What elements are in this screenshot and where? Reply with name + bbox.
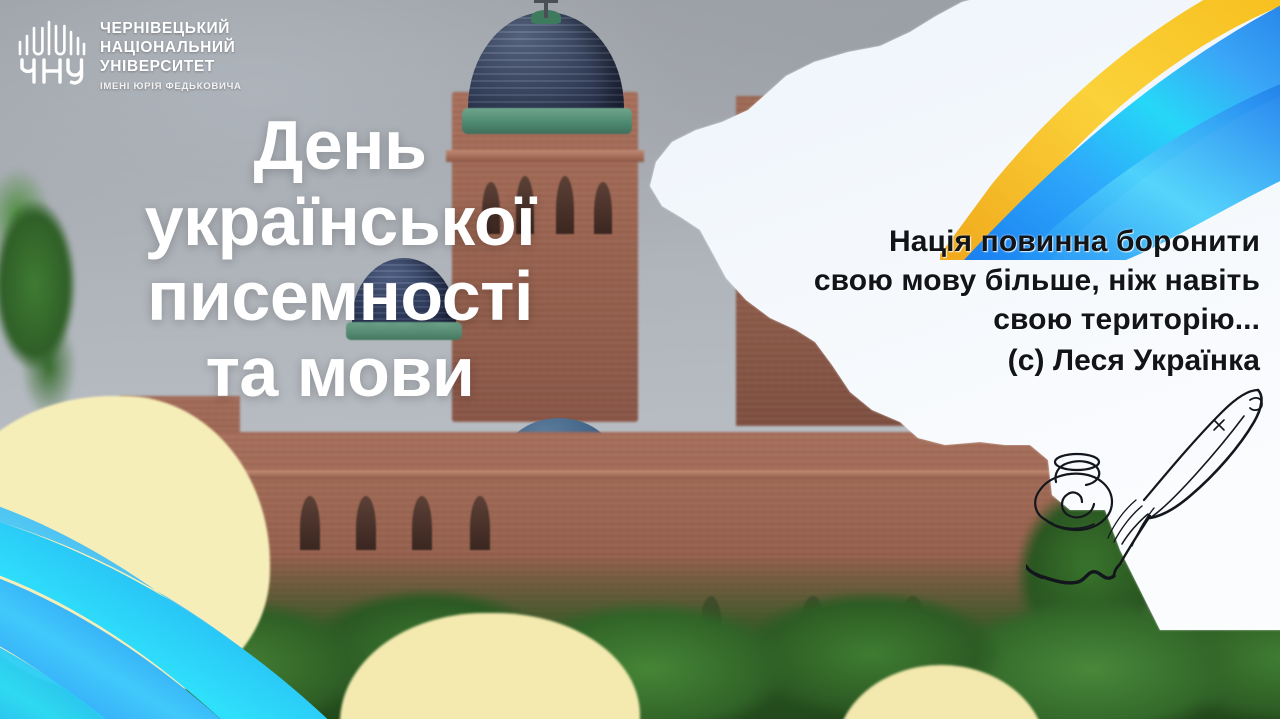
university-logo[interactable]: ЧЕРНІВЕЦЬКИЙ НАЦІОНАЛЬНИЙ УНІВЕРСИТЕТ ІМ…: [16, 16, 242, 92]
chnu-logo-mark-icon: [16, 16, 88, 86]
headline-line-2: української: [40, 184, 640, 260]
headline-line-3: писемності: [40, 259, 640, 335]
headline-line-1: День: [40, 108, 640, 184]
quote-line-2: свою мову більше, ніж навіть: [700, 261, 1260, 300]
quote-line-3: свою територію...: [700, 300, 1260, 339]
headline-line-4: та мови: [40, 335, 640, 411]
quote-author: (с) Леся Українка: [700, 341, 1260, 380]
logo-line-2: НАЦІОНАЛЬНИЙ: [100, 39, 242, 58]
quill-pen-and-inkwell-icon: [1026, 382, 1266, 597]
quotation-block: Нація повинна боронити свою мову більше,…: [700, 222, 1260, 380]
logo-line-1: ЧЕРНІВЕЦЬКИЙ: [100, 20, 242, 39]
quote-line-1: Нація повинна боронити: [700, 222, 1260, 261]
poster-headline: День української писемності та мови: [40, 108, 640, 410]
dome-finial-cross: [534, 0, 558, 3]
logo-wordmark: ЧЕРНІВЕЦЬКИЙ НАЦІОНАЛЬНИЙ УНІВЕРСИТЕТ ІМ…: [100, 16, 242, 92]
logo-subtitle: ІМЕНІ ЮРІЯ ФЕДЬКОВИЧА: [100, 81, 242, 92]
logo-line-3: УНІВЕРСИТЕТ: [100, 58, 242, 77]
poster-canvas: ЧЕРНІВЕЦЬКИЙ НАЦІОНАЛЬНИЙ УНІВЕРСИТЕТ ІМ…: [0, 0, 1280, 719]
